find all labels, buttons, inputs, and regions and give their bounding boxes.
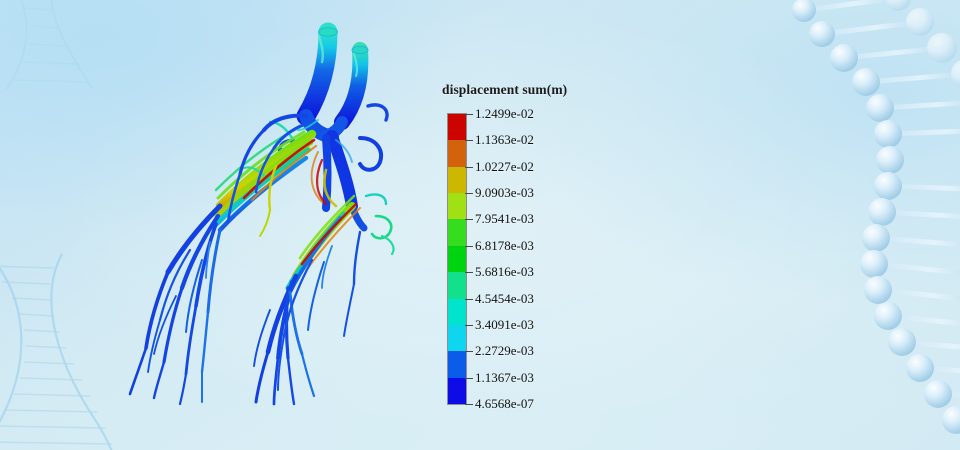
colorbar-tick-1 <box>465 140 473 141</box>
colorbar-label-8: 3.4091e-03 <box>475 317 534 333</box>
colorbar-labels: 1.2499e-021.1363e-021.0227e-029.0903e-03… <box>475 107 605 409</box>
visualization-canvas: displacement sum(m) 1.2499e-021.1363e-02… <box>0 0 960 450</box>
colorbar-tick-0 <box>465 114 473 115</box>
colorbar-tick-9 <box>465 351 473 352</box>
colorbar-band-5 <box>448 246 466 272</box>
colorbar-tick-4 <box>465 219 473 220</box>
colorbar-label-1: 1.1363e-02 <box>475 132 534 148</box>
colorbar-band-4 <box>448 219 466 245</box>
colorbar-band-0 <box>448 114 466 140</box>
colorbar-legend: displacement sum(m) 1.2499e-021.1363e-02… <box>437 82 607 407</box>
colorbar-label-6: 5.6816e-03 <box>475 264 534 280</box>
colorbar-tick-5 <box>465 246 473 247</box>
legend-title: displacement sum(m) <box>442 82 607 98</box>
vascular-displacement-model <box>60 10 460 440</box>
colorbar-tick-8 <box>465 325 473 326</box>
colorbar-band-7 <box>448 299 466 325</box>
colorbar-tick-6 <box>465 272 473 273</box>
colorbar-band-8 <box>448 325 466 351</box>
colorbar-band-10 <box>448 378 466 404</box>
colorbar-band-9 <box>448 351 466 377</box>
colorbar <box>447 113 467 405</box>
colorbar-label-9: 2.2729e-03 <box>475 343 534 359</box>
colorbar-label-4: 7.9541e-03 <box>475 211 534 227</box>
colorbar-band-3 <box>448 193 466 219</box>
colorbar-band-2 <box>448 167 466 193</box>
legend-body: 1.2499e-021.1363e-021.0227e-029.0903e-03… <box>437 107 607 407</box>
colorbar-tick-7 <box>465 299 473 300</box>
colorbar-tick-2 <box>465 167 473 168</box>
colorbar-tick-3 <box>465 193 473 194</box>
colorbar-label-0: 1.2499e-02 <box>475 106 534 122</box>
colorbar-band-6 <box>448 272 466 298</box>
colorbar-tick-10 <box>465 378 473 379</box>
colorbar-label-2: 1.0227e-02 <box>475 159 534 175</box>
colorbar-label-3: 9.0903e-03 <box>475 185 534 201</box>
colorbar-tick-11 <box>465 404 473 405</box>
colorbar-ticks <box>465 107 475 409</box>
colorbar-label-7: 4.5454e-03 <box>475 291 534 307</box>
colorbar-label-11: 4.6568e-07 <box>475 396 534 412</box>
colorbar-band-1 <box>448 140 466 166</box>
colorbar-label-10: 1.1367e-03 <box>475 370 534 386</box>
colorbar-label-5: 6.8178e-03 <box>475 238 534 254</box>
